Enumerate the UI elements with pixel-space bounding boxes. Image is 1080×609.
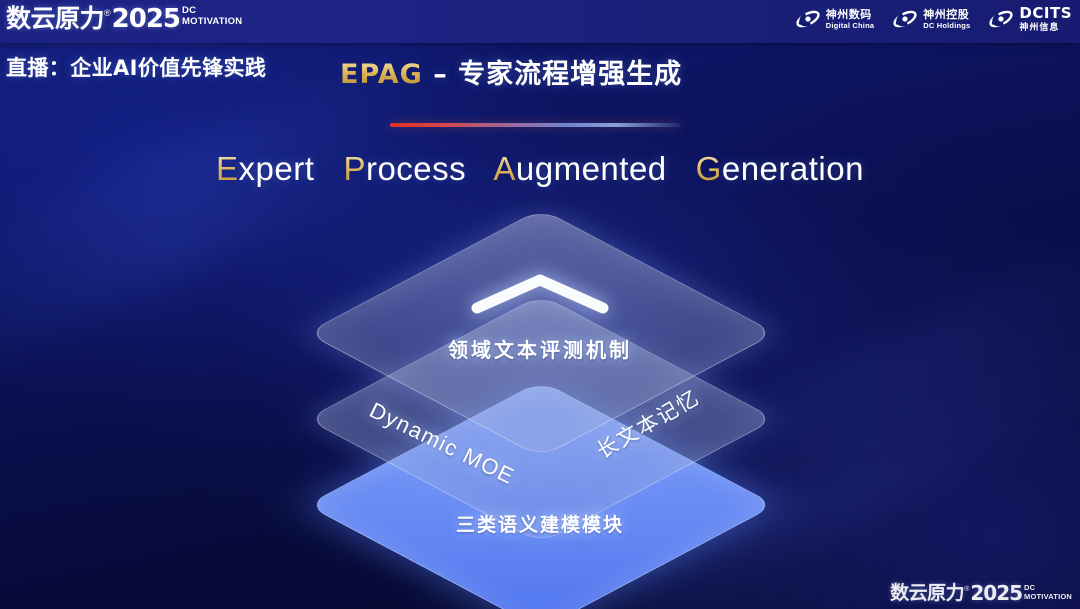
brand-subtitle: DC MOTIVATION bbox=[182, 6, 242, 27]
partner-name-en: DC Holdings bbox=[923, 22, 970, 30]
diagram-label-top: 领域文本评测机制 bbox=[0, 334, 1080, 363]
partner-label: 神州控股 DC Holdings bbox=[923, 9, 970, 30]
title-word-rest: xpert bbox=[239, 150, 315, 187]
title-word: Augmented bbox=[493, 150, 666, 187]
title-word-rest: rocess bbox=[366, 150, 466, 187]
title-space bbox=[476, 150, 486, 187]
title-word: Process bbox=[343, 150, 466, 187]
registered-mark: ® bbox=[104, 6, 111, 20]
partner-name-cn: 神州数码 bbox=[826, 9, 874, 20]
watermark-subtitle-line2: MOTIVATION bbox=[1024, 592, 1072, 601]
watermark-brand-cn: 数云原力 bbox=[890, 582, 964, 605]
brand-subtitle-line2: MOTIVATION bbox=[182, 16, 242, 27]
brand-year: 2025 bbox=[112, 4, 180, 34]
watermark-year: 2025 bbox=[970, 582, 1022, 605]
brand-subtitle-line1: DC bbox=[182, 6, 242, 16]
title-word-capital: P bbox=[343, 150, 366, 187]
diagram-label-bottom: 三类语义建模模块 bbox=[0, 510, 1080, 537]
swirl-logo-icon bbox=[988, 7, 1014, 31]
live-broadcast-label: 直播：企业AI价值先锋实践 bbox=[6, 52, 266, 82]
partner-name-cn: 神州信息 bbox=[1019, 23, 1072, 32]
title-word-rest: ugmented bbox=[516, 150, 667, 187]
header-bar: 数云原力 ® 2025 DC MOTIVATION bbox=[0, 0, 1080, 43]
title-acronym: EPAG bbox=[340, 59, 423, 90]
footer-watermark-logo: 数云原力 ® 2025 DC MOTIVATION bbox=[890, 582, 1072, 605]
title-word-capital: E bbox=[216, 150, 239, 187]
title-space bbox=[676, 150, 686, 187]
title-divider bbox=[390, 123, 680, 127]
watermark-registered-mark: ® bbox=[964, 584, 969, 595]
partner-logo-dcits: DCITS 神州信息 bbox=[988, 6, 1072, 32]
brand-logo: 数云原力 ® 2025 DC MOTIVATION bbox=[6, 4, 242, 34]
partner-name-cn: 神州控股 bbox=[923, 9, 970, 20]
partner-name-en: Digital China bbox=[826, 22, 874, 30]
partner-label: DCITS 神州信息 bbox=[1019, 6, 1072, 32]
watermark-subtitle: DC MOTIVATION bbox=[1024, 584, 1072, 601]
title-word: Generation bbox=[696, 150, 864, 187]
title-subtitle-cn: – 专家流程增强生成 bbox=[423, 59, 682, 90]
title-word: Expert bbox=[216, 150, 314, 187]
title-word-rest: eneration bbox=[722, 150, 864, 187]
partner-name-en: DCITS bbox=[1019, 6, 1072, 21]
title-space bbox=[324, 150, 334, 187]
swirl-logo-icon bbox=[892, 7, 918, 31]
partner-logo-dc-holdings: 神州控股 DC Holdings bbox=[892, 7, 970, 31]
page-title: EPAG – 专家流程增强生成 bbox=[340, 52, 682, 91]
partner-label: 神州数码 Digital China bbox=[826, 9, 874, 30]
title-word-capital: G bbox=[696, 150, 722, 187]
watermark-subtitle-line1: DC bbox=[1024, 584, 1072, 592]
title-word-capital: A bbox=[493, 150, 516, 187]
partner-logo-group: 神州数码 Digital China 神州控股 DC bbox=[795, 6, 1072, 32]
partner-logo-digital-china: 神州数码 Digital China bbox=[795, 7, 874, 31]
brand-name-cn: 数云原力 bbox=[6, 4, 104, 34]
swirl-logo-icon bbox=[795, 7, 821, 31]
presentation-slide: 数云原力 ® 2025 DC MOTIVATION bbox=[0, 0, 1080, 609]
page-title-english: Expert Process Augmented Generation bbox=[0, 150, 1080, 188]
